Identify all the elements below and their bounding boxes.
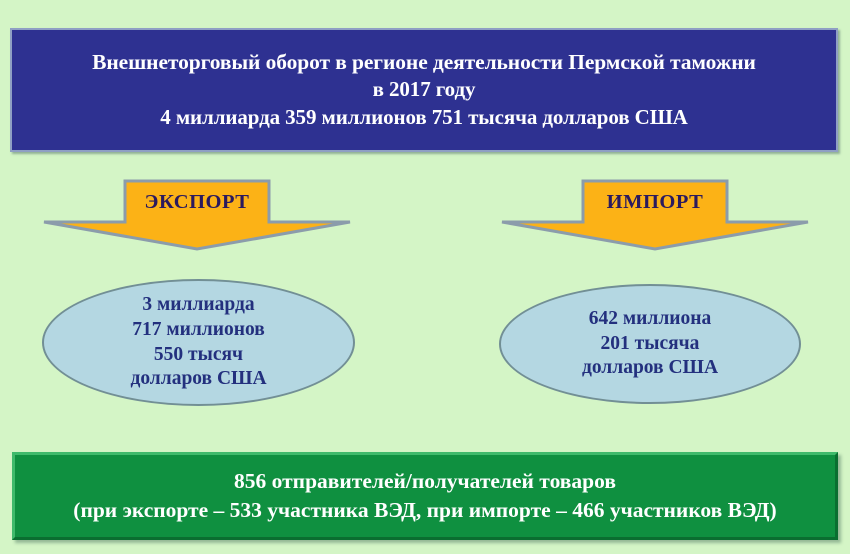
participants-line-1: 856 отправителей/получателей товаров <box>234 467 616 496</box>
title-banner: Внешнеторговый оборот в регионе деятельн… <box>10 28 838 152</box>
import-value-line-2: 201 тысяча <box>601 332 700 357</box>
export-value-line-2: 717 миллионов <box>132 318 265 343</box>
down-arrow-icon <box>42 179 352 251</box>
participants-line-2: (при экспорте – 533 участника ВЭД, при и… <box>73 496 776 525</box>
title-line-1: Внешнеторговый оборот в регионе деятельн… <box>92 48 756 77</box>
import-down-arrow: ИМПОРТ <box>500 179 810 251</box>
title-line-3: 4 миллиарда 359 миллионов 751 тысяча дол… <box>160 104 687 132</box>
export-down-arrow: ЭКСПОРТ <box>42 179 352 251</box>
participants-banner: 856 отправителей/получателей товаров (пр… <box>12 452 838 540</box>
export-value-line-3: 550 тысяч <box>154 343 243 368</box>
import-value-line-1: 642 миллиона <box>589 307 712 332</box>
slide-canvas: Внешнеторговый оборот в регионе деятельн… <box>0 0 850 554</box>
import-value-ellipse: 642 миллиона 201 тысяча долларов США <box>499 284 801 404</box>
down-arrow-icon <box>500 179 810 251</box>
title-line-2: в 2017 году <box>373 76 476 104</box>
import-value-line-3: долларов США <box>582 356 718 381</box>
export-value-line-1: 3 миллиарда <box>142 293 254 318</box>
export-value-ellipse: 3 миллиарда 717 миллионов 550 тысяч долл… <box>42 279 355 406</box>
export-value-line-4: долларов США <box>130 367 266 392</box>
